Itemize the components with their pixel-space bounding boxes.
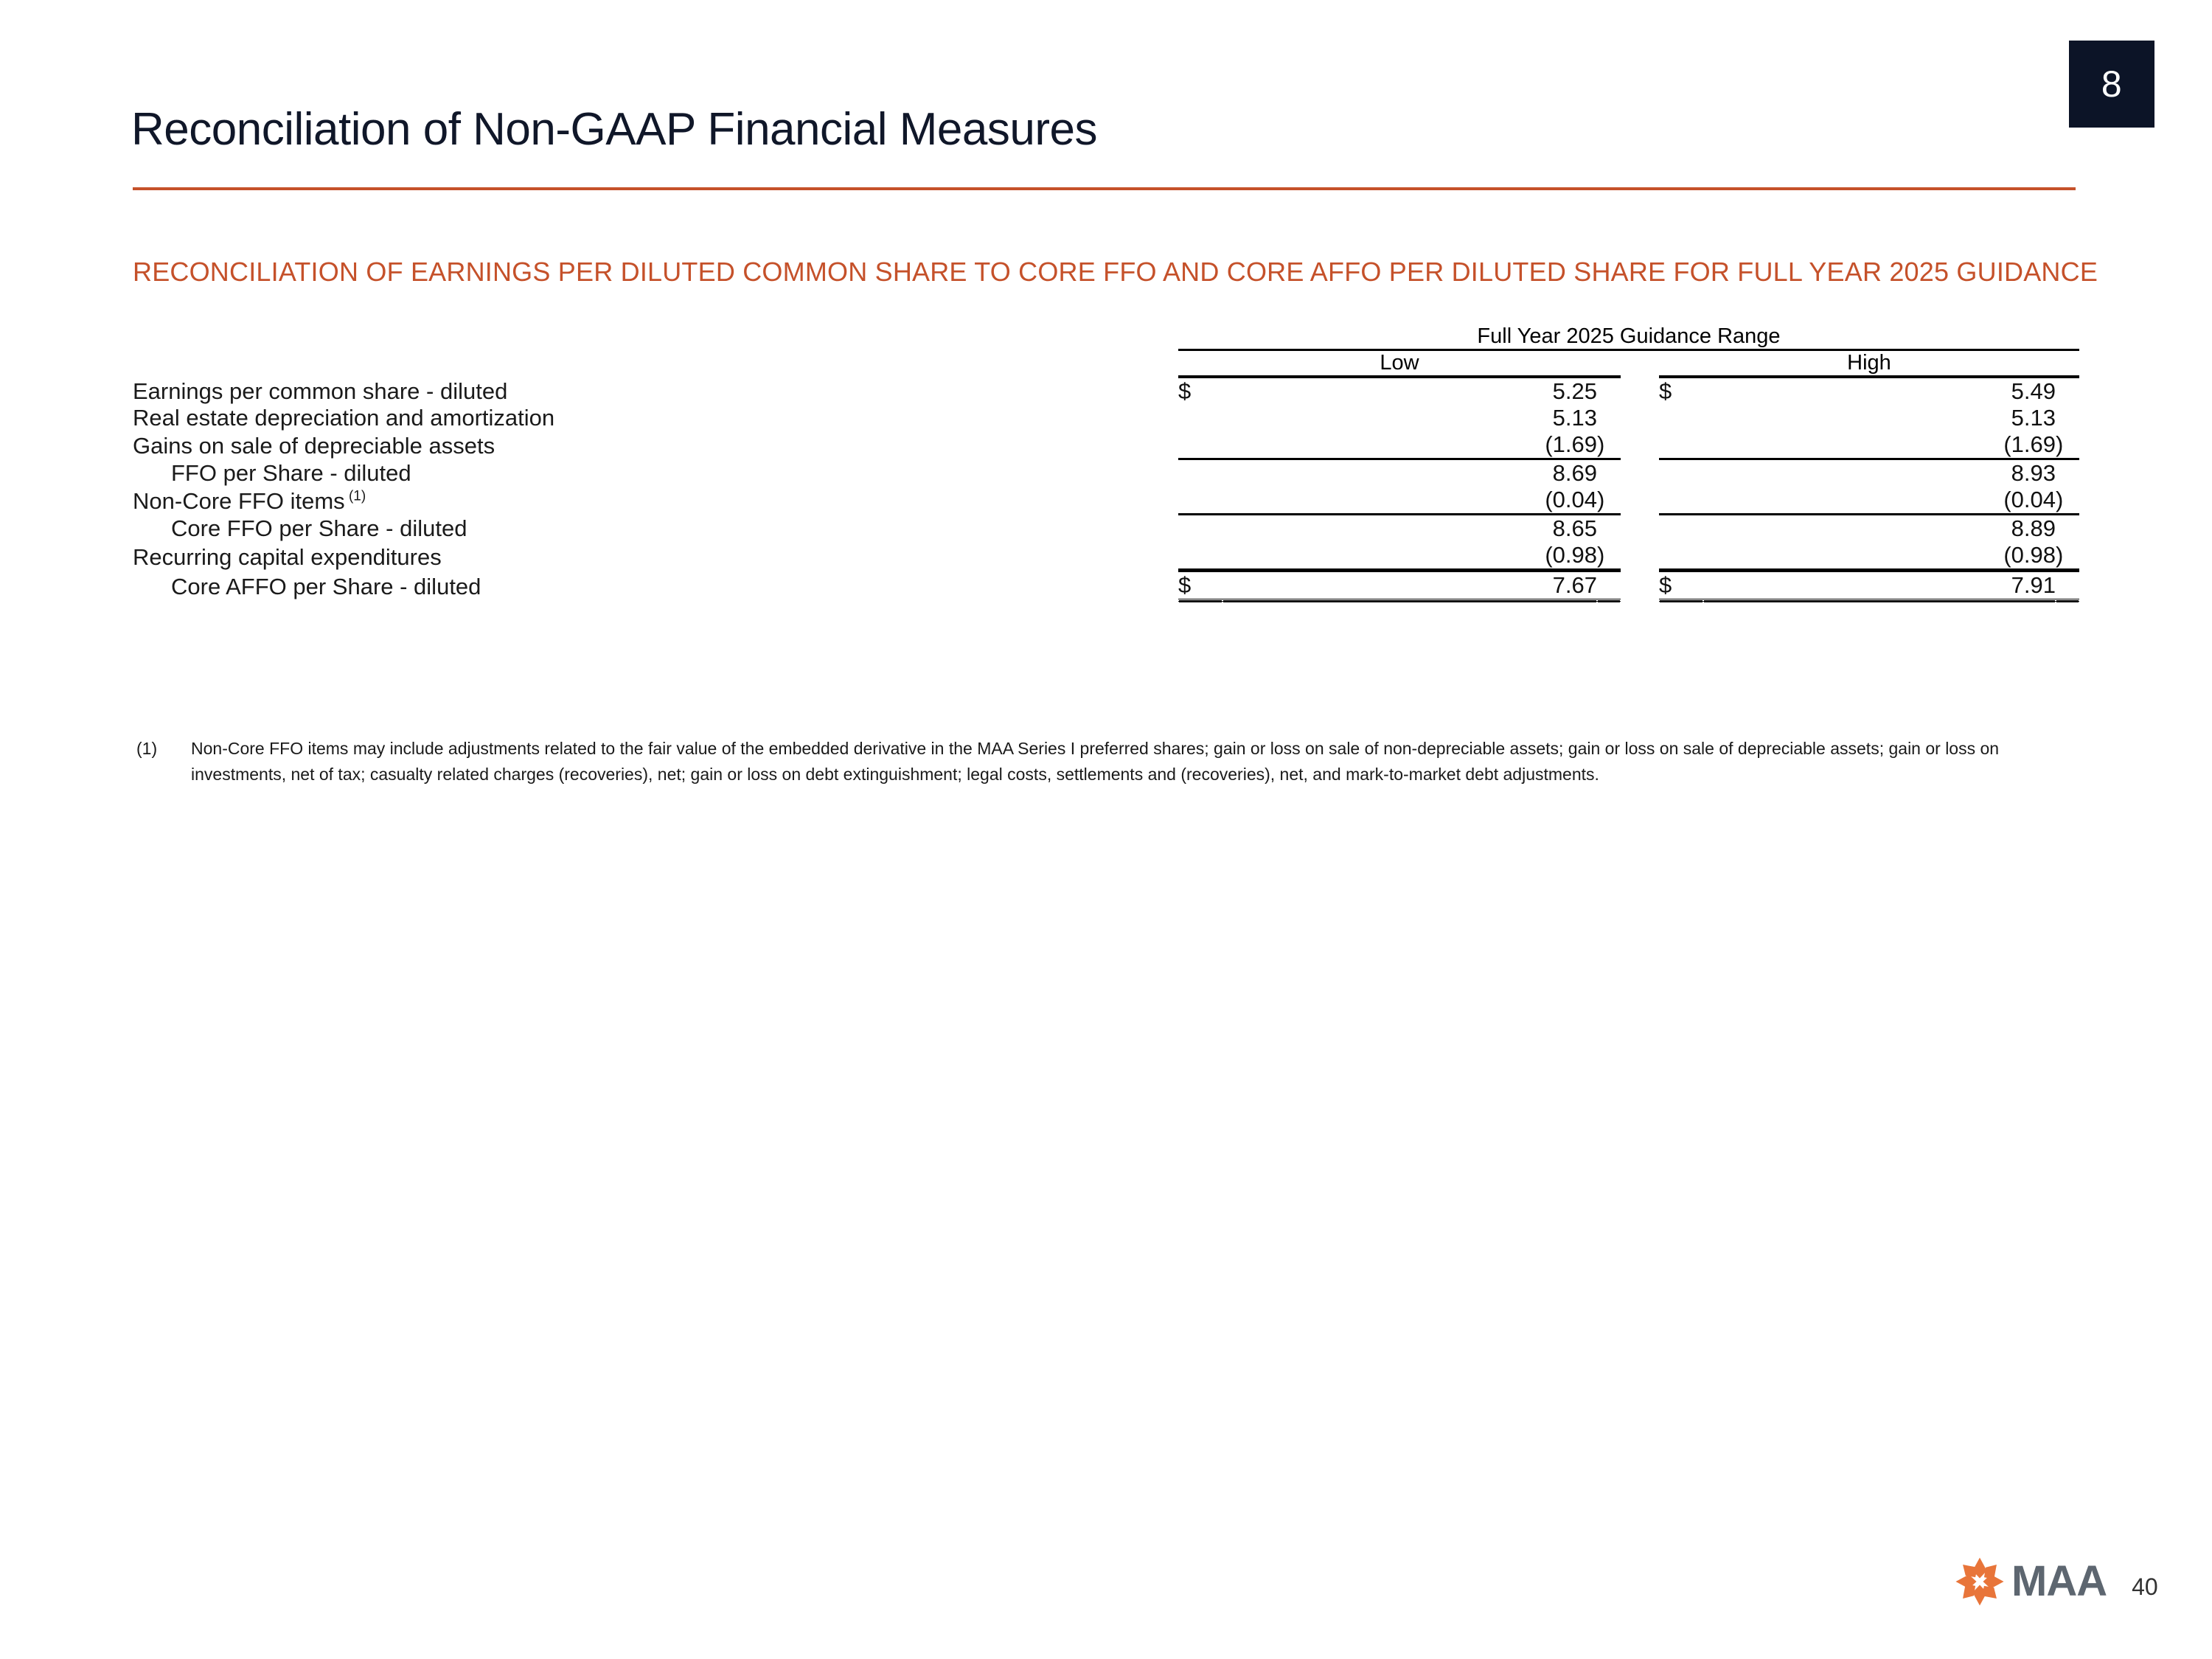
spacer-cell xyxy=(1621,542,1659,571)
table-body: Earnings per common share - diluted$5.25… xyxy=(133,377,2079,600)
value-high: 8.93 xyxy=(1703,459,2056,487)
column-header-low: Low xyxy=(1178,350,1621,376)
spacer-cell xyxy=(1621,515,1659,543)
value-high: (1.69 xyxy=(1703,431,2056,459)
value-low: 5.13 xyxy=(1222,405,1597,431)
row-label: Earnings per common share - diluted xyxy=(133,377,1172,405)
title-divider xyxy=(133,187,2076,190)
table-row: Earnings per common share - diluted$5.25… xyxy=(133,377,2079,405)
spacer-cell xyxy=(133,350,1172,376)
maa-wordmark: MAA xyxy=(2011,1560,2107,1603)
spacer-cell xyxy=(1172,459,1178,487)
spacer-cell xyxy=(1172,350,1178,376)
currency-symbol-high xyxy=(1659,542,1703,571)
slide-number-badge-value: 8 xyxy=(2101,63,2122,105)
value-paren-low xyxy=(1597,377,1621,405)
value-paren-low xyxy=(1597,459,1621,487)
value-low: 8.65 xyxy=(1222,515,1597,543)
maa-pinwheel-logo-icon xyxy=(1952,1554,2007,1609)
row-label: Gains on sale of depreciable assets xyxy=(133,431,1172,459)
value-paren-low: ) xyxy=(1597,431,1621,459)
value-paren-high xyxy=(2056,571,2079,601)
currency-symbol-high xyxy=(1659,405,1703,431)
value-paren-high: ) xyxy=(2056,542,2079,571)
spacer-cell xyxy=(1172,487,1178,515)
value-paren-high xyxy=(2056,459,2079,487)
footnote-reference-superscript: (1) xyxy=(345,488,366,504)
reconciliation-table: Full Year 2025 Guidance Range Low High xyxy=(133,324,2079,602)
currency-symbol-low: $ xyxy=(1178,377,1222,405)
currency-symbol-low xyxy=(1178,431,1222,459)
row-label: Core FFO per Share - diluted xyxy=(133,515,1172,543)
spacer-cell xyxy=(133,324,1172,349)
spacer-cell xyxy=(1172,377,1178,405)
footnote: (1) Non-Core FFO items may include adjus… xyxy=(136,736,2083,787)
table-header: Full Year 2025 Guidance Range Low High xyxy=(133,324,2079,377)
spacer-cell xyxy=(1172,571,1178,601)
spacer-cell xyxy=(1172,405,1178,431)
currency-symbol-low xyxy=(1178,405,1222,431)
row-label: Core AFFO per Share - diluted xyxy=(133,571,1172,601)
table-row: Core FFO per Share - diluted8.658.89 xyxy=(133,515,2079,543)
value-paren-high xyxy=(2056,377,2079,405)
value-paren-high xyxy=(2056,405,2079,431)
currency-symbol-low xyxy=(1178,542,1222,571)
spacer-cell xyxy=(1172,515,1178,543)
table-row: Real estate depreciation and amortizatio… xyxy=(133,405,2079,431)
spacer-cell xyxy=(1621,571,1659,601)
spacer-cell xyxy=(1172,324,1178,349)
table-row: FFO per Share - diluted8.698.93 xyxy=(133,459,2079,487)
value-low: (1.69 xyxy=(1222,431,1597,459)
spacer-cell xyxy=(1172,431,1178,459)
footer: MAA 40 xyxy=(1952,1554,2158,1609)
spacer-cell xyxy=(1172,542,1178,571)
value-high: (0.04 xyxy=(1703,487,2056,515)
currency-symbol-low xyxy=(1178,487,1222,515)
value-low: (0.98 xyxy=(1222,542,1597,571)
spacer-cell xyxy=(1621,377,1659,405)
footer-page-number: 40 xyxy=(2132,1565,2158,1599)
value-paren-low xyxy=(1597,405,1621,431)
value-paren-low xyxy=(1597,515,1621,543)
currency-symbol-high xyxy=(1659,459,1703,487)
currency-symbol-high: $ xyxy=(1659,571,1703,601)
currency-symbol-high: $ xyxy=(1659,377,1703,405)
spacer-cell xyxy=(1621,431,1659,459)
value-paren-high: ) xyxy=(2056,487,2079,515)
row-label: Non-Core FFO items (1) xyxy=(133,487,1172,515)
value-low: 7.67 xyxy=(1222,571,1597,601)
currency-symbol-low xyxy=(1178,515,1222,543)
table-header-columns-row: Low High xyxy=(133,350,2079,376)
table-header-span-row: Full Year 2025 Guidance Range xyxy=(133,324,2079,349)
table-row: Core AFFO per Share - diluted$7.67$7.91 xyxy=(133,571,2079,601)
row-label: Recurring capital expenditures xyxy=(133,542,1172,571)
value-high: 7.91 xyxy=(1703,571,2056,601)
currency-symbol-high xyxy=(1659,431,1703,459)
value-high: 5.13 xyxy=(1703,405,2056,431)
currency-symbol-high xyxy=(1659,515,1703,543)
column-header-high: High xyxy=(1659,350,2079,376)
value-paren-high: ) xyxy=(2056,431,2079,459)
reconciliation-table-wrapper: Full Year 2025 Guidance Range Low High xyxy=(133,324,2079,602)
value-low: (0.04 xyxy=(1222,487,1597,515)
currency-symbol-low xyxy=(1178,459,1222,487)
slide-number-badge: 8 xyxy=(2069,41,2154,128)
spacer-cell xyxy=(1621,487,1659,515)
footnote-marker: (1) xyxy=(136,736,191,762)
footnote-text: Non-Core FFO items may include adjustmen… xyxy=(191,736,2083,787)
table-row: Gains on sale of depreciable assets(1.69… xyxy=(133,431,2079,459)
value-low: 8.69 xyxy=(1222,459,1597,487)
currency-symbol-low: $ xyxy=(1178,571,1222,601)
currency-symbol-high xyxy=(1659,487,1703,515)
value-paren-high xyxy=(2056,515,2079,543)
table-span-header: Full Year 2025 Guidance Range xyxy=(1178,324,2079,349)
value-low: 5.25 xyxy=(1222,377,1597,405)
value-high: 8.89 xyxy=(1703,515,2056,543)
section-subtitle: RECONCILIATION OF EARNINGS PER DILUTED C… xyxy=(133,257,2098,288)
spacer-cell xyxy=(1621,350,1659,376)
value-paren-low: ) xyxy=(1597,542,1621,571)
spacer-cell xyxy=(1621,405,1659,431)
footnote-row: (1) Non-Core FFO items may include adjus… xyxy=(136,736,2083,787)
row-label: Real estate depreciation and amortizatio… xyxy=(133,405,1172,431)
value-high: (0.98 xyxy=(1703,542,2056,571)
table-row: Non-Core FFO items (1)(0.04)(0.04) xyxy=(133,487,2079,515)
row-label: FFO per Share - diluted xyxy=(133,459,1172,487)
value-paren-low xyxy=(1597,571,1621,601)
value-paren-low: ) xyxy=(1597,487,1621,515)
spacer-cell xyxy=(1621,459,1659,487)
table-row: Recurring capital expenditures(0.98)(0.9… xyxy=(133,542,2079,571)
value-high: 5.49 xyxy=(1703,377,2056,405)
page-title: Reconciliation of Non-GAAP Financial Mea… xyxy=(131,103,1097,156)
